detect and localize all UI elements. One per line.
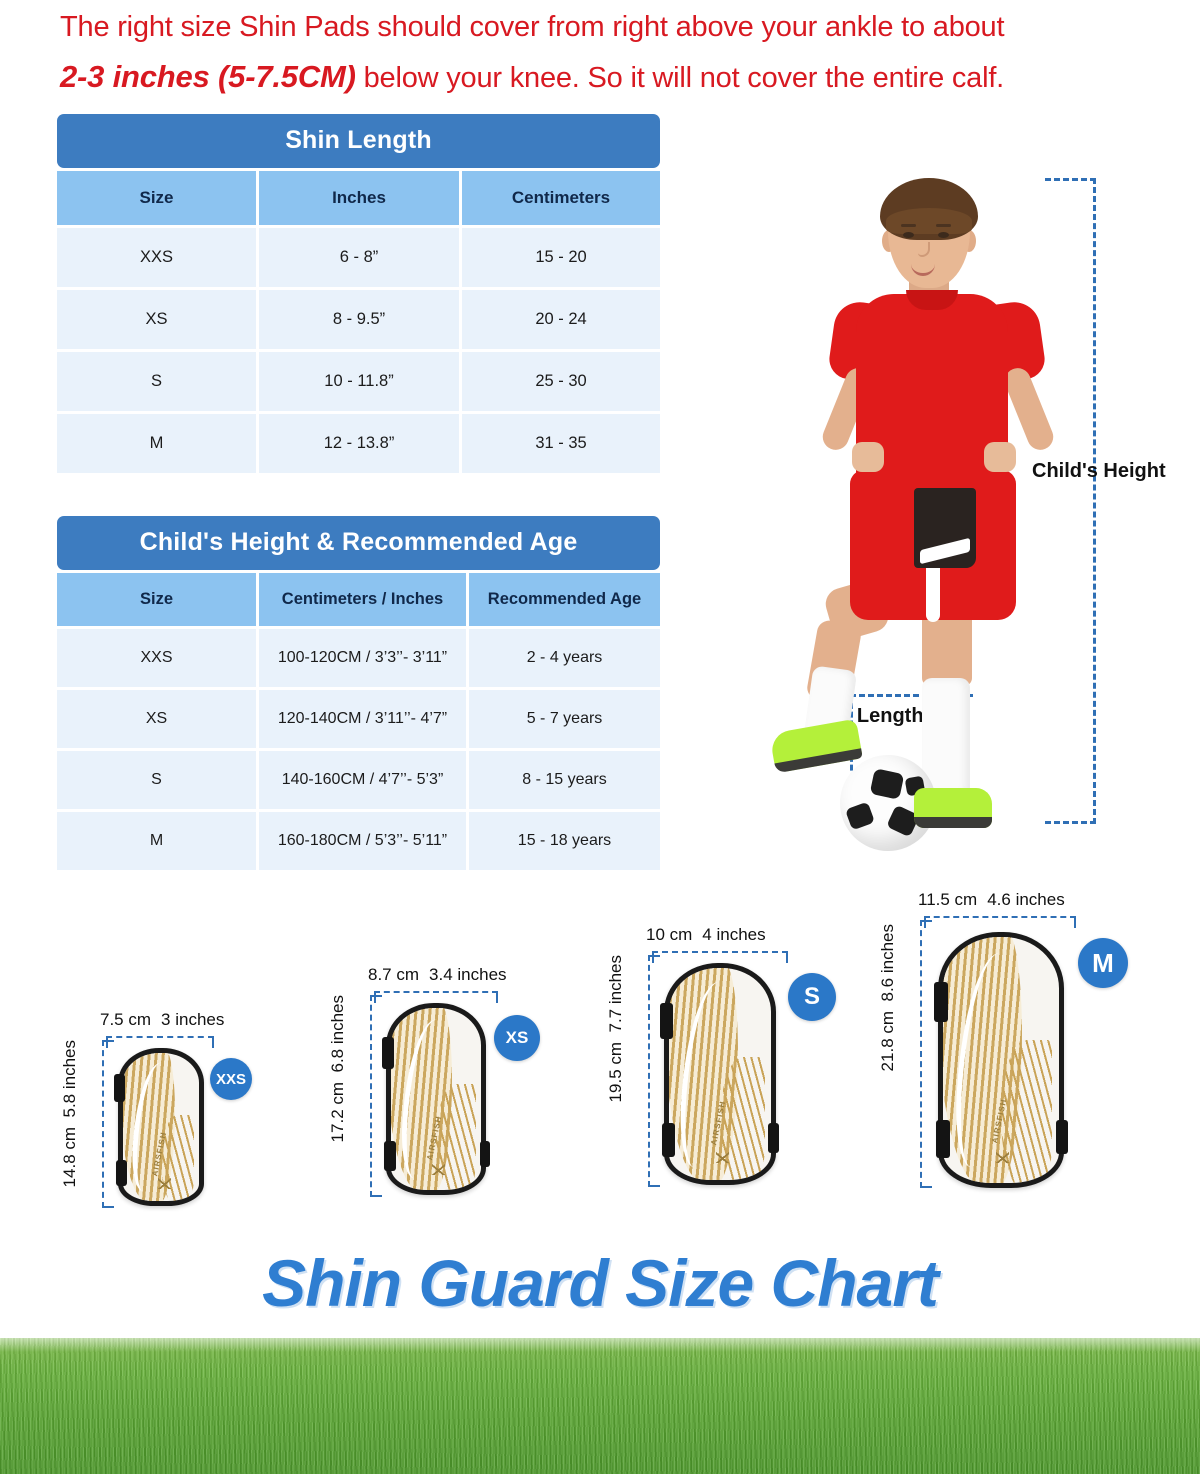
size-badge-s: S <box>788 973 836 1021</box>
table-row: M 160-180CM / 5’3’’- 5’11” 15 - 18 years <box>57 812 660 870</box>
shin-length-table: Shin Length Size Inches Centimeters XXS … <box>57 114 660 473</box>
notice-emphasis: 2-3 inches (5-7.5CM) <box>60 59 356 94</box>
strap-bottom <box>662 1123 675 1157</box>
width-label-xs: 8.7 cm3.4 inches <box>368 965 507 985</box>
strap-top <box>660 1003 673 1039</box>
fit-instruction-notice: The right size Shin Pads should cover fr… <box>60 2 1150 103</box>
size-badge-xxs: XXS <box>210 1058 252 1100</box>
cell-centimeters: 15 - 20 <box>462 228 660 287</box>
height-inches: 7.7 inches <box>606 955 625 1033</box>
cell-centimeters: 20 - 24 <box>462 290 660 349</box>
size-badge-xs: XS <box>494 1015 540 1061</box>
size-badge-m: M <box>1078 938 1128 988</box>
eye-left <box>903 232 914 238</box>
height-inches: 6.8 inches <box>328 995 347 1073</box>
strap-side <box>1056 1120 1068 1154</box>
cell-size: M <box>57 414 256 473</box>
strap-top <box>934 982 948 1022</box>
shin-guard-pad-xs: AIRSFISH <box>386 1003 486 1195</box>
cell-height: 120-140CM / 3’11’’- 4’7” <box>259 690 466 748</box>
cell-inches: 8 - 9.5” <box>259 290 459 349</box>
strap-top <box>382 1037 394 1069</box>
strap-side <box>768 1123 779 1153</box>
shin-guard-pad-m: AIRSFISH <box>938 932 1064 1188</box>
brand-logo-icon <box>996 1152 1009 1163</box>
width-bracket-icon <box>924 916 1076 928</box>
table-title: Shin Length <box>57 114 660 168</box>
gold-stripe-graphic-lower <box>720 1057 765 1185</box>
brand-logo-icon <box>716 1152 729 1163</box>
gold-stripe-graphic-lower <box>436 1084 476 1195</box>
cell-inches: 12 - 13.8” <box>259 414 459 473</box>
column-header-size: Size <box>57 171 256 225</box>
strap-bottom <box>936 1120 950 1158</box>
table-header-row: Size Centimeters / Inches Recommended Ag… <box>57 573 660 626</box>
notice-line-2-rest: below your knee. So it will not cover th… <box>356 62 1004 94</box>
width-cm: 10 cm <box>646 925 692 944</box>
cell-size: M <box>57 812 256 870</box>
table-row: S 10 - 11.8” 25 - 30 <box>57 352 660 411</box>
child-photo-illustration: Child's Height Shin Length <box>660 160 1200 850</box>
cell-size: XS <box>57 290 256 349</box>
cell-size: XS <box>57 690 256 748</box>
eye-right <box>938 232 949 238</box>
height-cm: 21.8 cm <box>878 1011 897 1071</box>
brand-logo-icon <box>158 1178 171 1189</box>
height-bracket-icon <box>648 955 660 1187</box>
cell-size: S <box>57 751 256 809</box>
height-cm: 14.8 cm <box>60 1127 79 1187</box>
gold-stripe-graphic-lower <box>161 1115 194 1206</box>
width-bracket-icon <box>652 951 788 963</box>
cell-height: 160-180CM / 5’3’’- 5’11” <box>259 812 466 870</box>
width-label-xxs: 7.5 cm3 inches <box>100 1010 224 1030</box>
height-bracket-icon <box>920 920 932 1188</box>
strap-top <box>114 1074 125 1102</box>
table-title: Child's Height & Recommended Age <box>57 516 660 570</box>
height-label-xs: 17.2 cm 6.8 inches <box>328 995 348 1142</box>
width-inches: 3.4 inches <box>429 965 507 984</box>
width-label-s: 10 cm4 inches <box>646 925 766 945</box>
strap-bottom <box>116 1160 127 1186</box>
width-bracket-icon <box>374 991 498 1003</box>
shorts-side-panel <box>914 488 976 568</box>
hair <box>880 178 978 240</box>
child-height-bracket-icon <box>1045 178 1096 824</box>
table-row: S 140-160CM / 4’7’’- 5’3” 8 - 15 years <box>57 751 660 809</box>
cleat-left <box>769 719 863 774</box>
table-row: M 12 - 13.8” 31 - 35 <box>57 414 660 473</box>
column-header-centimeters: Centimeters <box>462 171 660 225</box>
width-inches: 4.6 inches <box>987 890 1065 909</box>
chart-title: Shin Guard Size Chart <box>0 1245 1200 1321</box>
height-inches: 8.6 inches <box>878 924 897 1002</box>
child-height-age-table: Child's Height & Recommended Age Size Ce… <box>57 516 660 870</box>
ball-panel <box>870 768 905 800</box>
table-row: XS 8 - 9.5” 20 - 24 <box>57 290 660 349</box>
cell-size: XXS <box>57 228 256 287</box>
table-row: XS 120-140CM / 3’11’’- 4’7” 5 - 7 years <box>57 690 660 748</box>
height-cm: 19.5 cm <box>606 1042 625 1102</box>
table-row: XXS 100-120CM / 3’3’’- 3’11” 2 - 4 years <box>57 629 660 687</box>
cell-inches: 10 - 11.8” <box>259 352 459 411</box>
shin-guard-pad-s: AIRSFISH <box>664 963 776 1185</box>
width-inches: 4 inches <box>702 925 765 944</box>
column-header-height: Centimeters / Inches <box>259 573 466 626</box>
grass-field-background <box>0 1338 1200 1474</box>
width-inches: 3 inches <box>161 1010 224 1029</box>
column-header-size: Size <box>57 573 256 626</box>
cell-age: 8 - 15 years <box>469 751 660 809</box>
cell-centimeters: 25 - 30 <box>462 352 660 411</box>
height-label-s: 19.5 cm 7.7 inches <box>606 955 626 1102</box>
column-header-inches: Inches <box>259 171 459 225</box>
width-cm: 8.7 cm <box>368 965 419 984</box>
table-row: XXS 6 - 8” 15 - 20 <box>57 228 660 287</box>
shin-guard-pad-xxs: AIRSFISH <box>118 1048 204 1206</box>
hand-left <box>852 442 884 472</box>
notice-line-1: The right size Shin Pads should cover fr… <box>60 11 1004 43</box>
cell-size: XXS <box>57 629 256 687</box>
child-height-label: Child's Height <box>1032 460 1166 483</box>
width-cm: 11.5 cm <box>918 890 977 909</box>
cell-inches: 6 - 8” <box>259 228 459 287</box>
height-bracket-icon <box>370 995 382 1197</box>
cell-height: 100-120CM / 3’3’’- 3’11” <box>259 629 466 687</box>
gold-stripe-graphic-lower <box>1001 1040 1052 1188</box>
column-header-age: Recommended Age <box>469 573 660 626</box>
width-label-m: 11.5 cm4.6 inches <box>918 890 1065 910</box>
shin-guard-size-diagrams: 7.5 cm3 inches 14.8 cm 5.8 inches AIRSFI… <box>0 890 1200 1240</box>
height-bracket-icon <box>102 1040 114 1208</box>
height-inches: 5.8 inches <box>60 1040 79 1118</box>
hand-right <box>984 442 1016 472</box>
ball-panel <box>845 802 875 831</box>
height-label-m: 21.8 cm 8.6 inches <box>878 924 898 1071</box>
strap-side <box>480 1141 490 1167</box>
strap-bottom <box>384 1141 396 1171</box>
cleat-right <box>914 788 992 828</box>
boy-figure <box>810 170 1070 830</box>
eyebrow-left <box>901 224 916 227</box>
eyebrow-right <box>936 224 951 227</box>
cell-age: 2 - 4 years <box>469 629 660 687</box>
brand-logo-icon <box>432 1164 445 1175</box>
cell-height: 140-160CM / 4’7’’- 5’3” <box>259 751 466 809</box>
width-bracket-icon <box>106 1036 214 1048</box>
height-cm: 17.2 cm <box>328 1082 347 1142</box>
cell-age: 5 - 7 years <box>469 690 660 748</box>
height-label-xxs: 14.8 cm 5.8 inches <box>60 1040 80 1187</box>
cell-age: 15 - 18 years <box>469 812 660 870</box>
cell-centimeters: 31 - 35 <box>462 414 660 473</box>
table-header-row: Size Inches Centimeters <box>57 171 660 225</box>
width-cm: 7.5 cm <box>100 1010 151 1029</box>
cell-size: S <box>57 352 256 411</box>
